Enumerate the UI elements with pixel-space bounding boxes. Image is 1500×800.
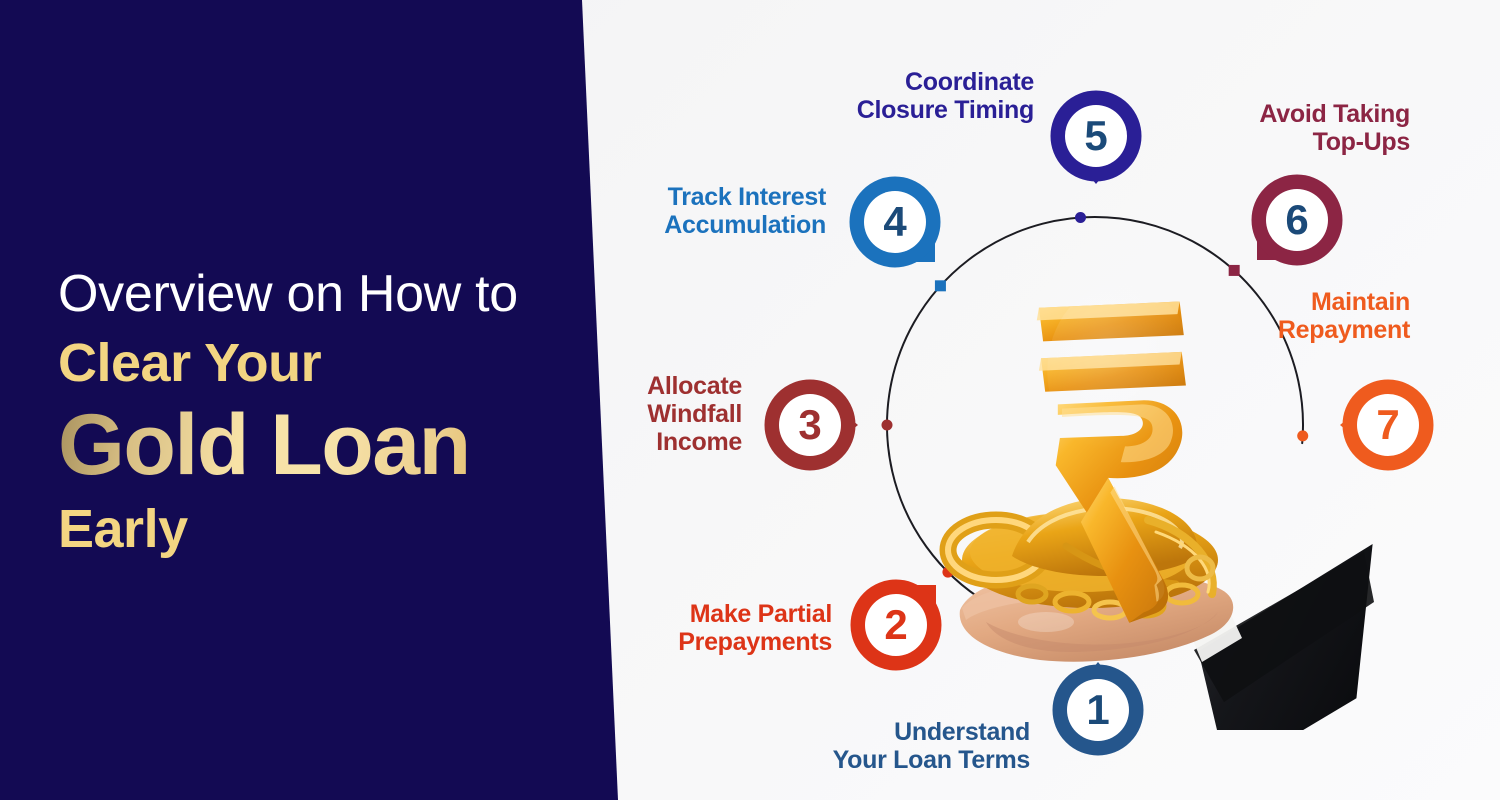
- step-label-6: Avoid Taking Top-Ups: [1140, 100, 1410, 156]
- step-marker-5[interactable]: 5: [1048, 88, 1144, 184]
- step-label-1: Understand Your Loan Terms: [760, 718, 1030, 774]
- step-marker-shape-6: [1249, 172, 1345, 268]
- step-marker-1[interactable]: 1: [1050, 662, 1146, 758]
- title-line-overview: Overview on How to: [58, 268, 598, 320]
- step-marker-6[interactable]: 6: [1249, 172, 1345, 268]
- step-marker-7[interactable]: 7: [1340, 377, 1436, 473]
- step-marker-4[interactable]: 4: [847, 174, 943, 270]
- step-marker-shape-1: [1050, 662, 1146, 758]
- infographic-canvas: Overview on How to Clear Your Gold Loan …: [0, 0, 1500, 800]
- step-label-5: Coordinate Closure Timing: [790, 68, 1034, 124]
- step-marker-shape-3: [762, 377, 858, 473]
- step-label-7: Maintain Repayment: [1140, 288, 1410, 344]
- step-label-4: Track Interest Accumulation: [598, 183, 826, 239]
- connector-dot-5: [1075, 212, 1086, 223]
- page-title: Overview on How to Clear Your Gold Loan …: [58, 268, 598, 556]
- step-marker-2[interactable]: 2: [848, 577, 944, 673]
- step-marker-3[interactable]: 3: [762, 377, 858, 473]
- connector-dot-3: [882, 420, 893, 431]
- title-line-clear-your: Clear Your: [58, 336, 598, 390]
- step-marker-shape-4: [847, 174, 943, 270]
- title-line-early: Early: [58, 502, 598, 556]
- step-label-3: Allocate Windfall Income: [600, 372, 742, 456]
- step-marker-shape-5: [1048, 88, 1144, 184]
- title-line-gold-loan: Gold Loan: [58, 402, 598, 488]
- step-marker-shape-7: [1340, 377, 1436, 473]
- step-label-2: Make Partial Prepayments: [600, 600, 832, 656]
- step-marker-shape-2: [848, 577, 944, 673]
